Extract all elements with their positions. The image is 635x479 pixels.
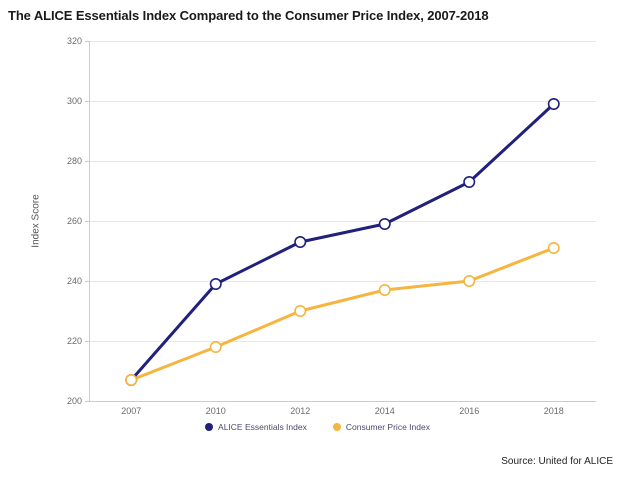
series-layer [0, 0, 635, 479]
data-point-marker[interactable] [464, 276, 474, 286]
legend-item-consumer-price-index[interactable]: Consumer Price Index [333, 422, 430, 432]
x-tick-label: 2018 [544, 406, 564, 416]
data-point-marker[interactable] [549, 99, 559, 109]
data-point-marker[interactable] [126, 375, 136, 385]
data-point-marker[interactable] [211, 342, 221, 352]
series-line-alice-essentials-index [131, 104, 554, 380]
chart-legend: ALICE Essentials Index Consumer Price In… [0, 422, 635, 432]
source-note: Source: United for ALICE [501, 456, 613, 467]
legend-color-swatch-icon [333, 423, 341, 431]
legend-item-alice-essentials-index[interactable]: ALICE Essentials Index [205, 422, 307, 432]
legend-color-swatch-icon [205, 423, 213, 431]
data-point-marker[interactable] [295, 237, 305, 247]
data-point-marker[interactable] [380, 219, 390, 229]
x-tick-label: 2010 [206, 406, 226, 416]
data-point-marker[interactable] [295, 306, 305, 316]
legend-item-label: ALICE Essentials Index [218, 422, 307, 432]
x-tick-label: 2016 [459, 406, 479, 416]
data-point-marker[interactable] [380, 285, 390, 295]
legend-item-label: Consumer Price Index [346, 422, 430, 432]
data-point-marker[interactable] [464, 177, 474, 187]
data-point-marker[interactable] [549, 243, 559, 253]
x-tick-label: 2014 [375, 406, 395, 416]
x-tick-label: 2007 [121, 406, 141, 416]
chart-card: The ALICE Essentials Index Compared to t… [0, 0, 635, 479]
series-line-consumer-price-index [131, 248, 554, 380]
x-tick-label: 2012 [290, 406, 310, 416]
data-point-marker[interactable] [211, 279, 221, 289]
